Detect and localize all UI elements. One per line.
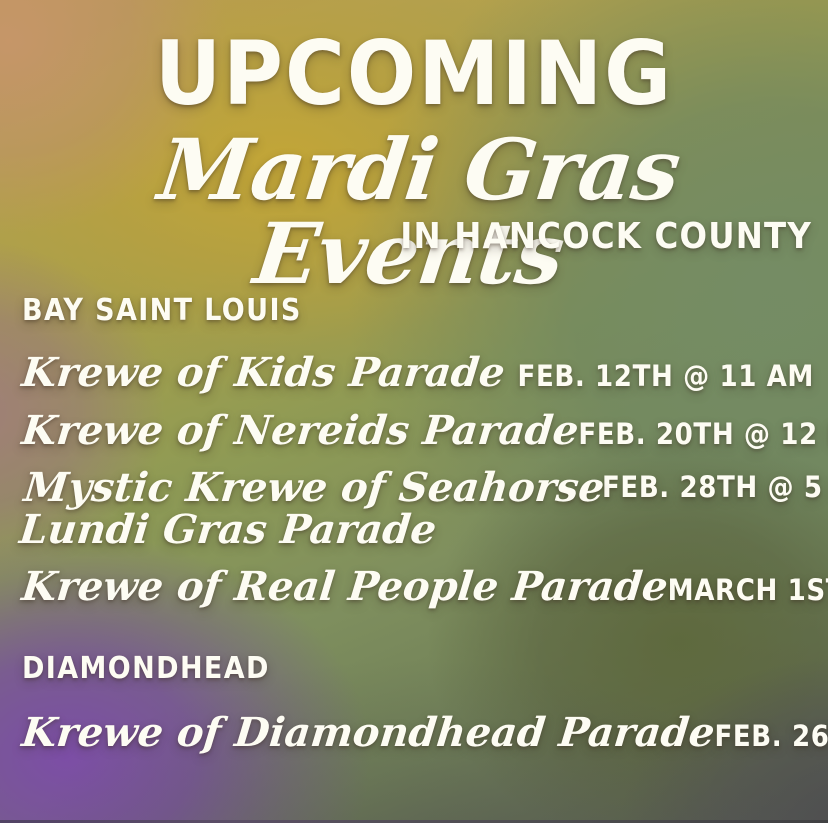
event-rows: Krewe of Kids ParadeFEB. 12TH @ 11 AMKre… (0, 352, 828, 608)
event-date: FEB. 20TH @ 12 PM (578, 420, 828, 449)
section-city-heading: BAY SAINT LOUIS (0, 296, 828, 326)
section-city-heading: DIAMONDHEAD (0, 654, 828, 684)
subtitle-location: IN HANCOCK COUNTY (0, 219, 828, 255)
poster-content: UPCOMING Mardi Gras Events IN HANCOCK CO… (0, 0, 828, 823)
event-row: Krewe of Diamondhead ParadeFEB. 26TH @ 1… (0, 712, 828, 754)
event-date: FEB. 28TH @ 5 PM (602, 473, 828, 502)
page-title: UPCOMING (0, 30, 828, 118)
events-list: BAY SAINT LOUISKrewe of Kids ParadeFEB. … (0, 296, 828, 754)
event-date: MARCH 1ST (668, 576, 828, 605)
event-rows: Krewe of Diamondhead ParadeFEB. 26TH @ 1… (0, 712, 828, 754)
event-name: Krewe of Nereids Parade (20, 410, 581, 452)
event-section: BAY SAINT LOUISKrewe of Kids ParadeFEB. … (0, 296, 828, 608)
event-row: Krewe of Kids ParadeFEB. 12TH @ 11 AM (0, 352, 828, 394)
event-date: FEB. 12TH @ 11 AM (518, 362, 814, 391)
event-name: Mystic Krewe of Seahorse Lundi Gras Para… (18, 467, 607, 550)
event-name: Krewe of Kids Parade (20, 352, 507, 394)
event-name: Krewe of Real People Parade (20, 566, 670, 608)
script-title: Mardi Gras Events (0, 128, 828, 296)
event-name: Krewe of Diamondhead Parade (20, 712, 717, 754)
event-row: Mystic Krewe of Seahorse Lundi Gras Para… (0, 467, 828, 550)
event-section: DIAMONDHEADKrewe of Diamondhead ParadeFE… (0, 654, 828, 754)
event-row: Krewe of Real People ParadeMARCH 1ST (0, 566, 828, 608)
event-row: Krewe of Nereids ParadeFEB. 20TH @ 12 PM (0, 410, 828, 452)
event-date: FEB. 26TH @ 12 PM (714, 722, 828, 751)
poster-canvas: UPCOMING Mardi Gras Events IN HANCOCK CO… (0, 0, 828, 823)
